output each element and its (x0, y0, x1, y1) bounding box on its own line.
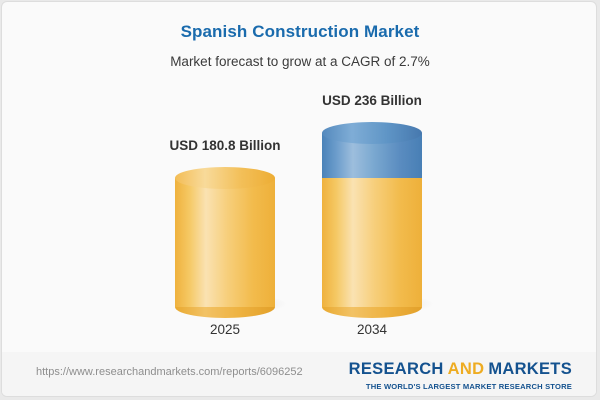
bar-category-label-2025: 2025 (175, 322, 275, 337)
bar-value-label-2025: USD 180.8 Billion (125, 138, 325, 153)
source-url[interactable]: https://www.researchandmarkets.com/repor… (36, 366, 303, 378)
logo-wordmark: RESEARCHANDMARKETS (349, 361, 572, 378)
cylinder-top-ellipse (175, 167, 275, 189)
bar-2034[interactable] (322, 122, 422, 307)
cylinder-body (322, 167, 422, 307)
chart-title: Spanish Construction Market (2, 22, 597, 42)
bar-2025[interactable] (175, 167, 275, 307)
bar-value-label-2034: USD 236 Billion (272, 93, 472, 108)
logo-word-and: AND (448, 360, 485, 378)
logo-word-markets: MARKETS (488, 360, 572, 378)
research-and-markets-logo: RESEARCHANDMARKETS THE WORLD'S LARGEST M… (349, 361, 572, 391)
bar-segment-growth-2034 (322, 122, 422, 178)
cylinder-top-ellipse (322, 122, 422, 144)
bar-segment-base-2025 (175, 167, 275, 307)
chart-subtitle: Market forecast to grow at a CAGR of 2.7… (2, 54, 597, 69)
cylinder-body (175, 178, 275, 307)
bar-segment-base-2034 (322, 167, 422, 307)
chart-footer: https://www.researchandmarkets.com/repor… (2, 352, 597, 396)
chart-card: Spanish Construction Market Market forec… (1, 1, 597, 397)
chart-plot-area: Spanish Construction Market Market forec… (2, 2, 597, 354)
logo-tagline: THE WORLD'S LARGEST MARKET RESEARCH STOR… (349, 382, 572, 391)
logo-word-research: RESEARCH (349, 360, 444, 378)
bar-category-label-2034: 2034 (322, 322, 422, 337)
